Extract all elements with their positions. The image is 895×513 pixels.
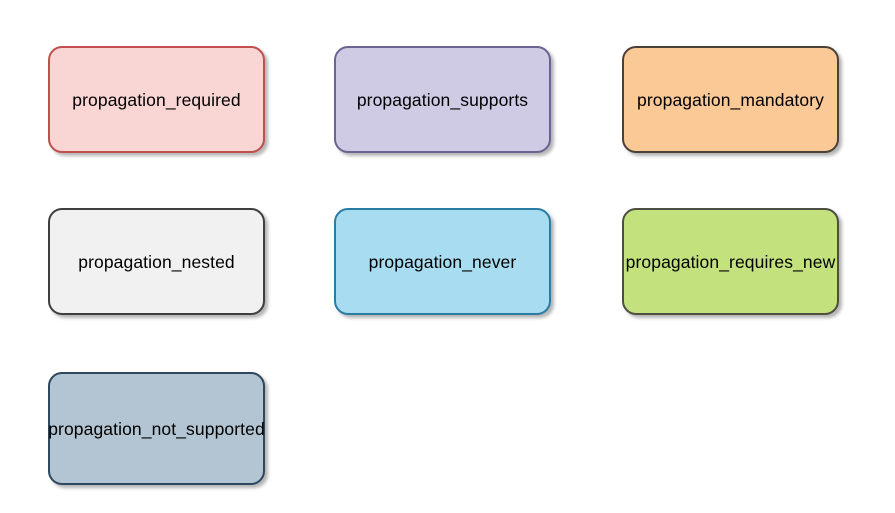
node-label: propagation_never xyxy=(369,252,517,272)
node-label: propagation_requires_new xyxy=(626,252,836,272)
node-label: propagation_supports xyxy=(357,90,528,110)
node-label: propagation_not_supported xyxy=(48,419,265,439)
node-label: propagation_nested xyxy=(78,252,235,272)
node-label: propagation_mandatory xyxy=(637,90,824,110)
node-propagation-not-supported[interactable]: propagation_not_supported xyxy=(48,372,265,485)
node-label: propagation_required xyxy=(72,90,240,110)
node-propagation-mandatory[interactable]: propagation_mandatory xyxy=(622,46,839,153)
diagram-canvas: propagation_requiredpropagation_supports… xyxy=(0,0,895,513)
node-propagation-never[interactable]: propagation_never xyxy=(334,208,551,315)
node-propagation-supports[interactable]: propagation_supports xyxy=(334,46,551,153)
node-propagation-nested[interactable]: propagation_nested xyxy=(48,208,265,315)
node-propagation-requires-new[interactable]: propagation_requires_new xyxy=(622,208,839,315)
node-propagation-required[interactable]: propagation_required xyxy=(48,46,265,153)
